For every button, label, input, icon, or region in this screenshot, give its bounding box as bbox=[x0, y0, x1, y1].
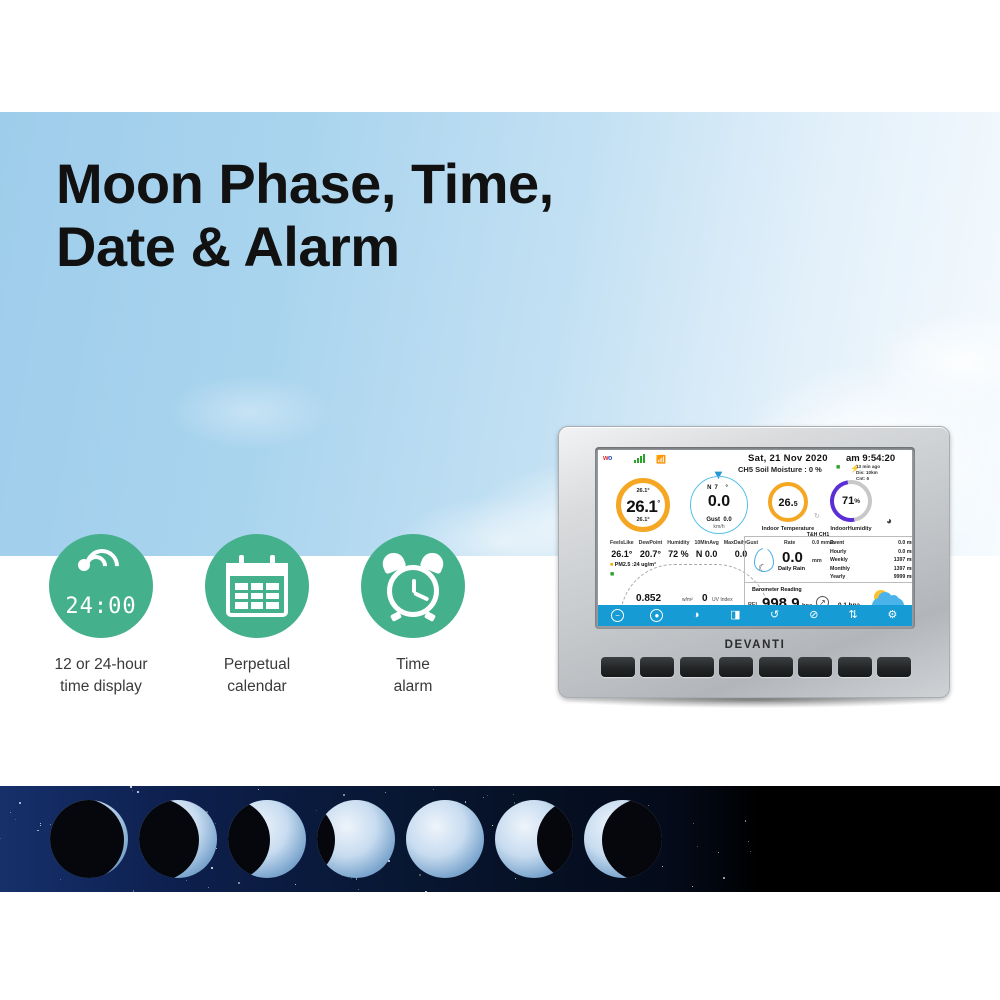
wind-gust-label: Gust bbox=[706, 517, 720, 523]
device-button[interactable] bbox=[838, 657, 872, 677]
moon-new-moon bbox=[50, 800, 128, 878]
stat-value: N 0.0 bbox=[695, 549, 719, 559]
headline-line-2: Date & Alarm bbox=[56, 215, 676, 278]
moon-phase-strip: Moon phase bbox=[0, 786, 1000, 892]
wind-degrees: 7 ° bbox=[714, 485, 730, 491]
rain-row-key: Monthly bbox=[830, 565, 850, 574]
stat-feelslike: FeelsLike 26.1° bbox=[610, 540, 634, 559]
stat-key: 10MinAvg bbox=[695, 540, 719, 546]
pm25-value: PM2.5 :24 ug/m³ bbox=[615, 562, 656, 568]
screen-toolbar: − ● ◑ ◨ ↺ ⊘ ⇅ ⚙ bbox=[598, 605, 912, 626]
feature-caption-line-2: time display bbox=[46, 676, 156, 698]
minus-circle-icon[interactable]: − bbox=[611, 609, 624, 622]
feature-caption-line-1: Time bbox=[358, 654, 468, 676]
device-body: wo 📶 Sat, 21 Nov 2020 am 9:54:20 CH5 Soi… bbox=[558, 426, 950, 698]
feature-caption-line-2: calendar bbox=[202, 676, 312, 698]
degree-symbol: ° bbox=[657, 500, 659, 507]
outdoor-temp-value: 26.1 bbox=[626, 497, 657, 516]
screen-time: am 9:54:20 bbox=[846, 453, 895, 464]
calendar-icon bbox=[205, 534, 309, 638]
moon-full-moon bbox=[406, 800, 484, 878]
rain-row-key: Hourly bbox=[830, 548, 846, 557]
stat-humidity: Humidity 72 % bbox=[667, 540, 689, 559]
co2-sensor-icon: ◕ bbox=[886, 516, 892, 527]
rain-rate-label: Rate bbox=[784, 540, 795, 546]
moon-shadow bbox=[317, 800, 335, 878]
wind-speed: 0.0 bbox=[691, 493, 747, 511]
rain-row: Weekly1397 mm bbox=[830, 556, 912, 565]
outdoor-temp-high: 26.1° bbox=[621, 488, 665, 494]
daily-rain-value: 0.0 bbox=[782, 549, 803, 566]
device-button[interactable] bbox=[759, 657, 793, 677]
solar-radiation-value: 0.852 bbox=[636, 593, 661, 604]
percent-symbol: % bbox=[854, 498, 860, 505]
barometer-label: Barometer Reading bbox=[752, 587, 802, 593]
headline-line-1: Moon Phase, Time, bbox=[56, 152, 676, 215]
stat-value: 72 % bbox=[667, 549, 689, 559]
feature-caption: 12 or 24-hour time display bbox=[46, 654, 156, 698]
sync-arrows-icon[interactable]: ⇅ bbox=[847, 609, 860, 622]
indoor-humidity-reading: 71% bbox=[830, 480, 872, 522]
feature-caption-line-2: alarm bbox=[358, 676, 468, 698]
device-button-row bbox=[601, 657, 911, 677]
device-button[interactable] bbox=[680, 657, 714, 677]
outdoor-temp-low: 26.1° bbox=[621, 517, 665, 523]
weather-station-device: wo 📶 Sat, 21 Nov 2020 am 9:54:20 CH5 Soi… bbox=[528, 420, 978, 710]
channel-label: T&H CH1 bbox=[758, 532, 878, 538]
outdoor-stats-row: FeelsLike 26.1° DewPoint 20.7° Humidity … bbox=[610, 540, 770, 559]
device-screen-bezel: wo 📶 Sat, 21 Nov 2020 am 9:54:20 CH5 Soi… bbox=[595, 447, 915, 629]
feature-item-alarm: Time alarm bbox=[358, 534, 468, 698]
feature-caption-line-1: 12 or 24-hour bbox=[46, 654, 156, 676]
moon-last-quarter bbox=[584, 800, 662, 878]
feature-list: 24:00 12 or 24-hour time display Perpetu… bbox=[46, 534, 516, 698]
device-screen: wo 📶 Sat, 21 Nov 2020 am 9:54:20 CH5 Soi… bbox=[598, 450, 912, 626]
stat-key: FeelsLike bbox=[610, 540, 634, 546]
pm25-reading: ■ PM2.5 :24 ug/m³ bbox=[610, 562, 656, 568]
gear-icon[interactable]: ⚙ bbox=[886, 609, 899, 622]
rain-row-value: 9999 mm bbox=[894, 573, 912, 582]
stat-dewpoint: DewPoint 20.7° bbox=[639, 540, 663, 559]
rain-drop-icon bbox=[754, 548, 774, 572]
refresh-icon[interactable]: ↺ bbox=[768, 609, 781, 622]
refresh-small-icon: ↻ bbox=[814, 512, 820, 520]
stat-value: 26.1° bbox=[610, 549, 634, 559]
device-button[interactable] bbox=[601, 657, 635, 677]
moon-waning-gibbous bbox=[495, 800, 573, 878]
screen-date: Sat, 21 Nov 2020 bbox=[748, 453, 828, 464]
dot-circle-icon[interactable]: ● bbox=[650, 609, 663, 622]
panel-divider-bottom bbox=[744, 582, 912, 583]
stat-key: DewPoint bbox=[639, 540, 663, 546]
device-button[interactable] bbox=[640, 657, 674, 677]
moon-shadow bbox=[602, 800, 662, 878]
signal-bars-icon bbox=[634, 455, 645, 463]
moon-waxing-gibbous bbox=[317, 800, 395, 878]
panel-divider-top bbox=[744, 536, 912, 537]
stat-maxdailygust: MaxDailyGust 0.0 bbox=[724, 540, 758, 559]
rain-row: Yearly9999 mm bbox=[830, 573, 912, 582]
daily-rain-label: Daily Rain bbox=[778, 566, 805, 572]
device-button[interactable] bbox=[798, 657, 832, 677]
stat-value: 0.0 bbox=[724, 549, 758, 559]
indoor-temperature-gauge: 26.5 bbox=[768, 482, 808, 522]
rain-row-value: 0.0 mm bbox=[898, 548, 912, 557]
rain-totals-list: Event0.0 mm Hourly0.0 mm Weekly1397 mm M… bbox=[830, 539, 912, 582]
rain-row: Event0.0 mm bbox=[830, 539, 912, 548]
stat-10minavg: 10MinAvg N 0.0 bbox=[695, 540, 719, 559]
moon-phase-sequence bbox=[50, 800, 700, 878]
indoor-humidity-value: 71 bbox=[842, 495, 854, 507]
indoor-temp-value: 26. bbox=[778, 497, 793, 509]
rain-row: Hourly0.0 mm bbox=[830, 548, 912, 557]
rain-row-key: Event bbox=[830, 539, 844, 548]
sensor-battery-icon: ■ bbox=[610, 571, 614, 578]
wind-gauge: N7 ° 0.0 Gust 0.0 km/h bbox=[690, 476, 748, 534]
brightness-icon[interactable]: ◨ bbox=[729, 609, 742, 622]
contrast-icon[interactable]: ◑ bbox=[690, 609, 703, 622]
daily-rain-unit: mm bbox=[812, 558, 822, 564]
battery-icon: ■ bbox=[836, 464, 840, 471]
device-button[interactable] bbox=[877, 657, 911, 677]
rain-row-value: 1397 mm bbox=[894, 556, 912, 565]
clock-24h-digits: 24:00 bbox=[65, 594, 137, 619]
stat-key: Humidity bbox=[667, 540, 689, 546]
rain-row-key: Yearly bbox=[830, 573, 845, 582]
stat-key: MaxDailyGust bbox=[724, 540, 758, 546]
rain-row: Monthly1397 mm bbox=[830, 565, 912, 574]
moon-waxing-crescent bbox=[139, 800, 217, 878]
moon-shadow bbox=[50, 800, 124, 878]
indoor-temp-decimal: 5 bbox=[794, 501, 798, 508]
rain-row-value: 0.0 mm bbox=[898, 539, 912, 548]
clock-24h-icon: 24:00 bbox=[49, 534, 153, 638]
device-brand: DEVANTI bbox=[559, 639, 951, 651]
rain-row-key: Weekly bbox=[830, 556, 848, 565]
station-logo-icon: wo bbox=[603, 455, 612, 462]
moon-shadow bbox=[139, 800, 199, 878]
stat-value: 20.7° bbox=[639, 549, 663, 559]
feature-item-calendar: Perpetual calendar bbox=[202, 534, 312, 698]
rf-antenna-icon: 📶 bbox=[656, 455, 666, 464]
uv-index-label: UV Index bbox=[712, 597, 733, 603]
feature-caption: Time alarm bbox=[358, 654, 468, 698]
moon-first-quarter bbox=[228, 800, 306, 878]
moon-shadow bbox=[228, 800, 270, 878]
rain-row-value: 1397 mm bbox=[894, 565, 912, 574]
feature-caption-line-1: Perpetual bbox=[202, 654, 312, 676]
solar-radiation-unit: w/m² bbox=[682, 597, 693, 603]
device-button[interactable] bbox=[719, 657, 753, 677]
wind-gust-value: 0.0 bbox=[723, 517, 731, 523]
soil-moisture-reading: CH5 Soil Moisture : 0 % bbox=[738, 465, 822, 474]
wind-unit: km/h bbox=[691, 524, 747, 530]
outdoor-temperature-gauge: 26.1° 26.1° 26.1° bbox=[616, 478, 670, 532]
feature-caption: Perpetual calendar bbox=[202, 654, 312, 698]
uv-index-value: 0 bbox=[702, 593, 708, 604]
page-title: Moon Phase, Time, Date & Alarm bbox=[56, 152, 676, 279]
alarm-clock-icon bbox=[361, 534, 465, 638]
wifi-off-icon[interactable]: ⊘ bbox=[807, 609, 820, 622]
moon-shadow bbox=[537, 800, 573, 878]
feature-item-time-display: 24:00 12 or 24-hour time display bbox=[46, 534, 156, 698]
